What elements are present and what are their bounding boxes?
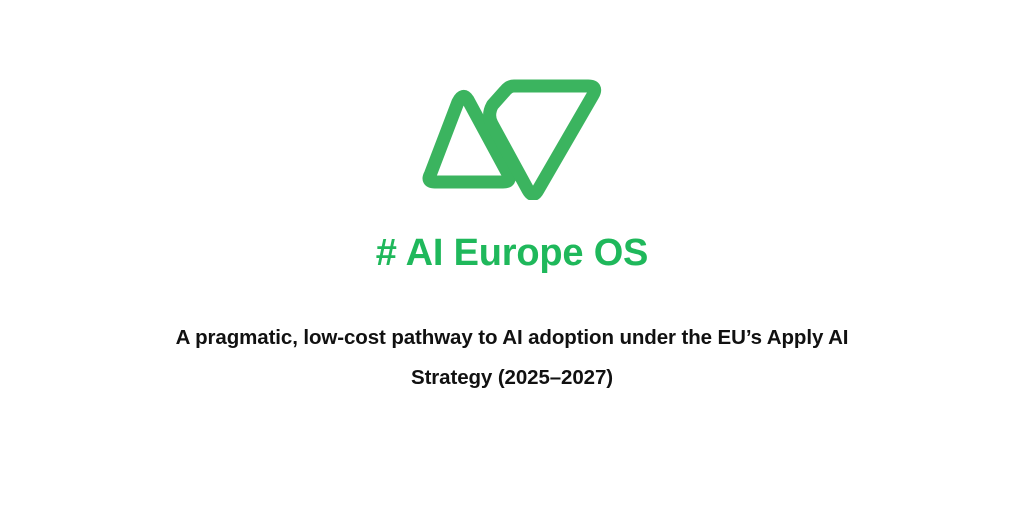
title-slide: # AI Europe OS A pragmatic, low-cost pat…	[0, 0, 1024, 512]
angular-n-monogram-icon	[422, 78, 602, 200]
page-subtitle: A pragmatic, low-cost pathway to AI adop…	[122, 323, 902, 392]
subtitle-line-2: Strategy (2025–2027)	[122, 363, 902, 392]
logo	[422, 78, 602, 200]
page-title: # AI Europe OS	[376, 234, 648, 274]
subtitle-line-1: A pragmatic, low-cost pathway to AI adop…	[122, 323, 902, 352]
